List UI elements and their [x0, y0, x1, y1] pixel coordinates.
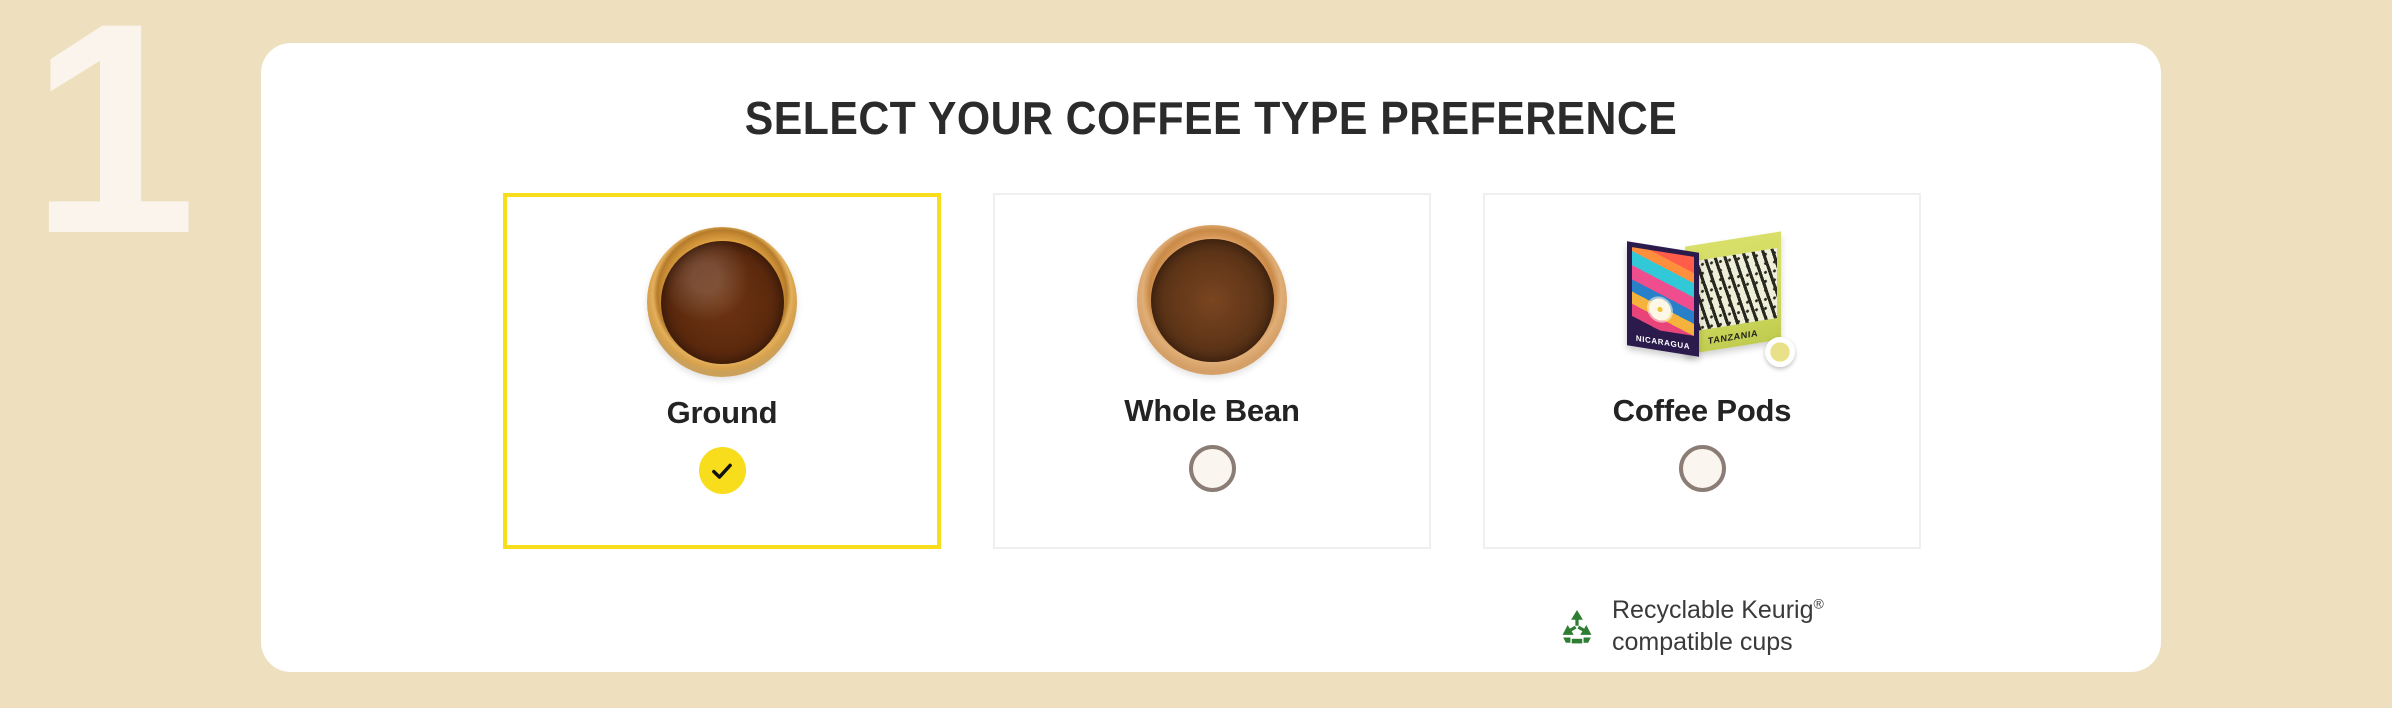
option-card-whole-bean[interactable]: Whole Bean — [993, 193, 1431, 549]
coffee-pods-image: TANZANIA NICARAGUA — [1627, 225, 1777, 375]
coffee-beans-texture — [1151, 239, 1274, 362]
bowl-icon — [647, 227, 797, 377]
radio-whole-bean[interactable] — [1189, 445, 1236, 492]
recyclable-note-line1: Recyclable Keurig — [1612, 596, 1814, 624]
option-label-coffee-pods: Coffee Pods — [1613, 393, 1792, 429]
page-title: SELECT YOUR COFFEE TYPE PREFERENCE — [328, 91, 2095, 145]
option-card-ground[interactable]: Ground — [503, 193, 941, 549]
nicaragua-box-label: NICARAGUA — [1627, 332, 1699, 352]
recyclable-note-line2: compatible cups — [1612, 628, 1793, 656]
whole-bean-image — [1137, 225, 1287, 375]
trademark-symbol: ® — [1814, 596, 1824, 612]
recyclable-note-text: Recyclable Keurig® compatible cups — [1612, 595, 1824, 658]
step-number: 1 — [30, 0, 191, 278]
option-label-ground: Ground — [667, 395, 778, 431]
coffee-grounds-texture — [661, 241, 784, 364]
k-cup-pod-icon — [1765, 337, 1795, 367]
radio-ground[interactable] — [699, 447, 746, 494]
bowl-icon — [1137, 225, 1287, 375]
pod-boxes-icon: TANZANIA NICARAGUA — [1627, 233, 1797, 373]
tanzania-box: TANZANIA — [1685, 231, 1781, 354]
recyclable-note: Recyclable Keurig® compatible cups — [1556, 595, 1824, 658]
option-card-coffee-pods[interactable]: TANZANIA NICARAGUA Coffee Pods — [1483, 193, 1921, 549]
coffee-type-options: Ground — [503, 193, 1921, 549]
nicaragua-box: NICARAGUA — [1627, 241, 1699, 356]
option-label-whole-bean: Whole Bean — [1124, 393, 1299, 429]
ground-coffee-image — [647, 227, 797, 377]
check-icon — [709, 458, 735, 484]
radio-coffee-pods[interactable] — [1679, 445, 1726, 492]
recycle-icon — [1556, 606, 1598, 648]
flower-icon — [1649, 297, 1671, 322]
selection-panel: SELECT YOUR COFFEE TYPE PREFERENCE Groun… — [261, 43, 2161, 672]
